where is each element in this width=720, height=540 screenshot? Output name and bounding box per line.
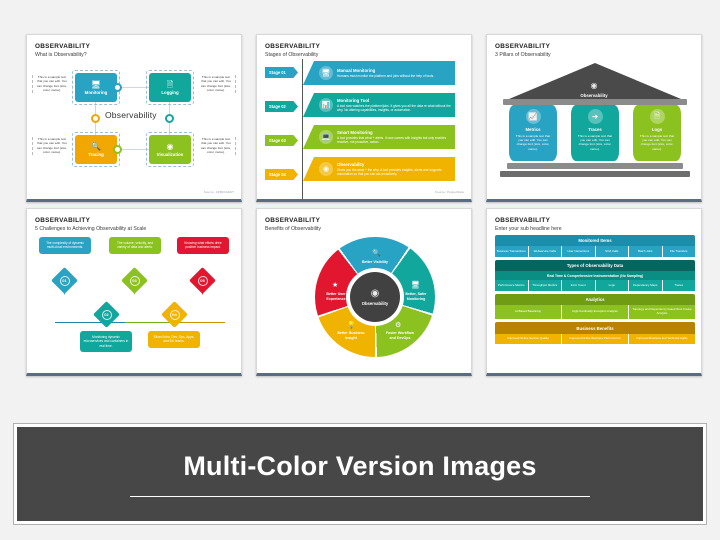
pillar-name: Traces [588,127,602,132]
base-slab-lower [500,171,690,177]
pillar-name: Metrics [525,127,540,132]
node-monitoring[interactable]: 🖥 Monitoring [75,73,117,102]
table-group-subheader: Real Time & Comprehensive Instrumentatio… [495,271,695,280]
table-cell[interactable]: Throughput Metrics [529,280,562,291]
page-title: OBSERVABILITY [265,43,320,50]
magnifier-icon: 🔍 [91,143,101,151]
hub-node-top [113,83,122,92]
stage-heading: Smart Monitoring [337,130,455,135]
segment-label-workflow: Faster Workflow and DevOps [383,331,417,340]
challenge-text-2[interactable]: Monitoring dynamic microservices and con… [80,331,132,352]
eye-icon: ◉ [319,162,333,176]
challenge-number-label: 04 [170,310,180,320]
table-cell[interactable]: SOA Calls [596,246,629,257]
page-subtitle: Stages of Observability [265,52,318,58]
table-group-monitored-items: Monitored Items Business Transactions We… [495,235,695,257]
diagram-canvas: 🖥 Monitoring 🗎 Logging 🔍 Tracing ◉ Visua… [27,61,241,201]
stage-description: A tool provides that what + alerts. It n… [337,136,455,144]
table-cell[interactable]: Topology and Dependency based Root Cause… [629,305,695,319]
pillar-description: This is a sample text that you can edit.… [515,134,551,151]
challenge-number-4: 04 [165,305,184,324]
table-cell[interactable]: Logs [596,280,629,291]
node-label: Visualization [157,152,184,157]
stage-heading: Manual Monitoring [337,68,434,73]
pillar-description: This is a sample text that you can edit.… [639,134,675,151]
node-visualization[interactable]: ◉ Visualization [149,135,191,164]
table-group-analytics: Analytics AI-Based Baselining High-Cardi… [495,294,695,320]
callout-visualization: This is a sample text that you can edit.… [199,137,236,155]
callout-tracing: This is a sample text that you can edit.… [32,137,69,155]
page-title: OBSERVABILITY [35,43,90,50]
server-monitor-icon: 🖥 [319,66,333,80]
slide-what-is-observability[interactable]: OBSERVABILITY What is Observability? 🖥 M… [26,34,242,202]
eye-icon: ◉ [371,289,380,299]
node-logging[interactable]: 🗎 Logging [149,73,191,102]
smart-screen-icon: 💻 [319,130,333,144]
donut-center: ◉ Observability [350,272,400,322]
table-cell[interactable]: AI-Based Baselining [495,305,561,319]
table-group-business-benefits: Business Benefits Improved Online Servic… [495,322,695,344]
stage-band-2[interactable]: 📊 Monitoring Tool A tool now watches the… [303,93,455,117]
table-cell[interactable]: Performance Metrics [495,280,528,291]
callout-monitoring: This is a sample text that you can edit.… [32,75,69,93]
stage-description: Gives you the what + the why. A tool pro… [337,168,455,176]
segment-label-experience: Better User Experience [319,292,353,301]
pillar-metrics[interactable]: 📈 Metrics This is a sample text that you… [509,105,557,161]
stage-heading: Monitoring Tool [337,98,455,103]
callout-logging: This is a sample text that you can edit.… [199,75,236,93]
pillar-logs[interactable]: 🗎 Logs This is a sample text that you ca… [633,105,681,161]
banner-title: Multi-Color Version Images [183,451,536,482]
center-label: Observability [362,301,389,306]
page-title: OBSERVABILITY [35,217,90,224]
challenge-number-label: 02 [102,310,112,320]
table-cell[interactable]: Batch Jobs [629,246,662,257]
document-icon: 🗎 [167,81,173,89]
page-title: OBSERVABILITY [265,217,320,224]
hub-node-right [165,114,174,123]
challenge-text-1[interactable]: The complexity of dynamic multi-cloud en… [39,237,91,254]
multi-color-version-banner: Multi-Color Version Images [14,424,706,524]
table-cell[interactable]: Improved Online Service Quality [495,334,561,345]
page-title: OBSERVABILITY [495,43,550,50]
segment-label-insight: Better Business Insight [334,331,368,340]
table-row: Improved Online Service Quality Improved… [495,334,695,345]
timeline-axis [302,59,303,199]
source-credit: Source: APMDIGEST [204,190,234,194]
page-title: OBSERVABILITY [495,217,550,224]
banner-divider [130,496,590,498]
gear-cycle-icon: ⚙ [395,321,401,329]
slide-3-pillars[interactable]: OBSERVABILITY 3 Pillars of Observability… [486,34,702,202]
monitor-icon: 🖥 [91,81,101,89]
slide-5-challenges[interactable]: OBSERVABILITY 5 Challenges to Achieving … [26,208,242,376]
node-label: Monitoring [85,90,108,95]
slide-stages-of-observability[interactable]: OBSERVABILITY Stages of Observability 🖥 … [256,34,472,202]
table-cell[interactable]: Traces [663,280,696,291]
table-group-types-of-data: Types of Observability Data Real Time & … [495,260,695,291]
stage-tag-1[interactable]: Stage 01 [265,67,298,78]
pillar-traces[interactable]: ➔ Traces This is a sample text that you … [571,105,619,161]
bar-chart-icon: 📈 [526,109,541,124]
node-tracing[interactable]: 🔍 Tracing [75,135,117,164]
stage-band-3[interactable]: 💻 Smart Monitoring A tool provides that … [303,125,455,149]
challenge-text-5[interactable]: Knowing what efforts drive positive busi… [177,237,229,254]
stage-band-4[interactable]: ◉ Observability Gives you the what + the… [303,157,455,181]
pillar-name: Logs [652,127,662,132]
table-cell[interactable]: Dependency Maps [629,280,662,291]
dashboard-icon: 📊 [319,98,333,112]
eye-icon: ◉ [487,81,701,90]
roof-label: Observability [487,93,701,98]
stage-tag-4[interactable]: Stage 04 [265,169,298,180]
table-group-header: Business Benefits [495,322,695,333]
lightbulb-icon: 💡 [347,321,356,329]
stage-heading: Observability [337,162,455,167]
table-cell[interactable]: High-Cardinality Exception Analysis [562,305,628,319]
slide-benefits[interactable]: OBSERVABILITY Benefits of Observability … [256,208,472,376]
page-subtitle: Enter your sub headline here [495,226,562,232]
stage-description: Humans must monitor the platform and job… [337,74,434,78]
table-cell[interactable]: Improved Business and Technical Agility [629,334,695,345]
cursor-arrow-icon: ➔ [588,109,603,124]
table-cell[interactable]: Business Transactions [495,246,528,257]
table-group-header: Types of Observability Data [495,260,695,271]
slide-thumbnail-grid: OBSERVABILITY What is Observability? 🖥 M… [26,34,694,402]
stage-tag-2[interactable]: Stage 02 [265,101,298,112]
node-label: Logging [161,90,178,95]
stage-tag-3[interactable]: Stage 03 [265,135,298,146]
table-cell[interactable]: User Interactions [562,246,595,257]
table-cell[interactable]: Error Count [562,280,595,291]
table-group-header: Monitored Items [495,235,695,246]
table-cell[interactable]: Webservice Calls [529,246,562,257]
segment-label-visibility: Better Visibility [358,260,392,265]
table-group-header: Analytics [495,294,695,305]
stage-band-1[interactable]: 🖥 Manual Monitoring Humans must monitor … [303,61,455,85]
pillar-description: This is a sample text that you can edit.… [577,134,613,151]
page-subtitle: 5 Challenges to Achieving Observability … [35,226,146,232]
slide-observability-table[interactable]: OBSERVABILITY Enter your sub headline he… [486,208,702,376]
hub-node-left [91,114,100,123]
challenge-text-4[interactable]: Siloed Infra, Dev, Ops, Apps, and BU tea… [148,331,200,348]
document-icon: 🗎 [650,109,665,124]
table-cell[interactable]: Improved Online Business Performance [562,334,628,345]
user-heart-icon: ★ [332,281,338,289]
node-label: Tracing [88,152,104,157]
table-cell[interactable]: File Transfers [663,246,696,257]
page-subtitle: Benefits of Observability [265,226,321,232]
challenge-text-3[interactable]: The volume, velocity, and variety of dat… [109,237,161,254]
observability-table: Monitored Items Business Transactions We… [495,235,695,347]
eye-search-icon: 🔍 [372,249,381,257]
table-row: Business Transactions Webservice Calls U… [495,246,695,257]
center-label: Observability [105,110,157,120]
page-subtitle: What is Observability? [35,52,87,58]
segment-label-monitoring: Better, Safer Monitoring [399,292,433,301]
table-row: AI-Based Baselining High-Cardinality Exc… [495,305,695,319]
challenge-number-2: 02 [97,305,116,324]
page-subtitle: 3 Pillars of Observability [495,52,551,58]
source-credit: Source: PepperData [435,190,464,194]
monitor-shield-icon: 🖥 [411,281,420,289]
base-slab-upper [507,163,683,169]
hub-node-bottom [113,145,122,154]
eye-icon: ◉ [167,143,174,151]
table-row: Performance Metrics Throughput Metrics E… [495,280,695,291]
challenge-number-label: 03 [130,276,140,286]
benefits-donut-chart: ◉ Observability 🔍 Better Visibility 🖥 Be… [315,237,435,357]
challenge-number-label: 01 [60,276,70,286]
challenge-number-label: 05 [198,276,208,286]
stage-description: A tool now watches the platform/jobs. It… [337,104,455,112]
